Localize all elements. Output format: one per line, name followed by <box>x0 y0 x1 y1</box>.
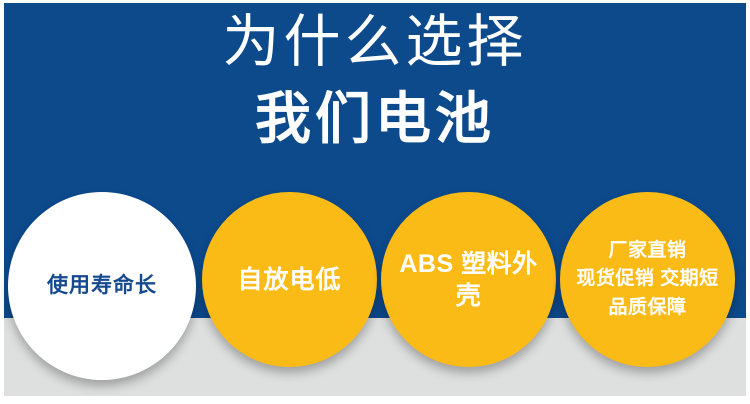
feature-circle-factory-direct-label: 厂家直销 现货促销 交期短 品质保障 <box>570 237 724 323</box>
feature-circle-abs-case[interactable]: ABS 塑料外壳 <box>381 192 556 367</box>
feature-circle-factory-direct-line-2: 现货促销 交期短 <box>576 265 718 294</box>
feature-circle-factory-direct-line-3: 品质保障 <box>576 294 718 323</box>
headline-line-1: 为什么选择 <box>0 14 750 71</box>
feature-circle-self-discharge[interactable]: 自放电低 <box>202 192 377 367</box>
feature-circle-factory-direct-line-1: 厂家直销 <box>576 237 718 266</box>
feature-circle-abs-case-label: ABS 塑料外壳 <box>381 248 556 312</box>
promo-banner: 为什么选择 我们电池 使用寿命长 自放电低 ABS 塑料外壳 厂家直销 现货促销… <box>0 0 750 404</box>
feature-circle-lifespan-label: 使用寿命长 <box>41 273 163 300</box>
headline-line-2: 我们电池 <box>0 91 750 147</box>
feature-circle-lifespan[interactable]: 使用寿命长 <box>8 192 196 380</box>
headline: 为什么选择 我们电池 <box>0 14 750 147</box>
feature-circle-self-discharge-label: 自放电低 <box>231 264 347 296</box>
feature-circle-factory-direct[interactable]: 厂家直销 现货促销 交期短 品质保障 <box>560 192 735 367</box>
